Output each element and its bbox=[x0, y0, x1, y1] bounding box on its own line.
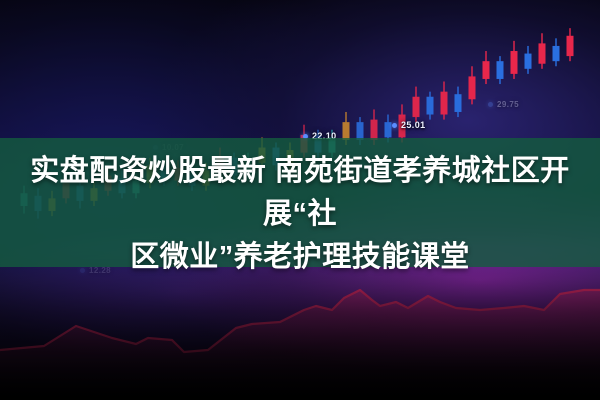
price-label-value: 29.75 bbox=[497, 100, 519, 109]
page-title-line-1: 实盘配资炒股最新 南苑街道孝养城社区开展“社 bbox=[14, 150, 586, 236]
price-label: 25.01 bbox=[392, 120, 426, 130]
page-title: 实盘配资炒股最新 南苑街道孝养城社区开展“社 区微业”养老护理技能课堂 bbox=[0, 150, 600, 279]
page-title-line-2: 区微业”养老护理技能课堂 bbox=[14, 236, 586, 279]
price-marker-dot bbox=[488, 102, 493, 107]
screenshot-canvas: 22.1025.0129.7510.0718.7512.28 实盘配资炒股最新 … bbox=[0, 0, 600, 400]
price-marker-dot bbox=[392, 123, 397, 128]
price-label: 29.75 bbox=[488, 100, 519, 109]
price-label-value: 25.01 bbox=[401, 120, 426, 130]
